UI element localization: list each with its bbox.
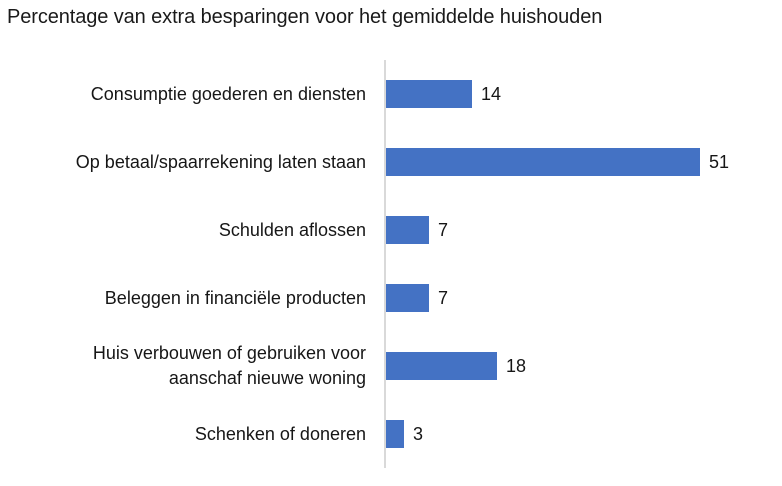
bar-group: 18 bbox=[386, 352, 526, 380]
bar-row: Consumptie goederen en diensten 14 bbox=[0, 60, 782, 128]
bar-value-label: 7 bbox=[438, 284, 448, 312]
bar-row: Beleggen in financiële producten 7 bbox=[0, 264, 782, 332]
category-label-line: Schenken of doneren bbox=[195, 422, 366, 447]
bar-value-label: 18 bbox=[506, 352, 526, 380]
bar-row: Op betaal/spaarrekening laten staan 51 bbox=[0, 128, 782, 196]
bar-group: 51 bbox=[386, 148, 729, 176]
bar[interactable] bbox=[386, 80, 472, 108]
category-label: Op betaal/spaarrekening laten staan bbox=[6, 128, 366, 196]
category-label: Schenken of doneren bbox=[6, 400, 366, 468]
bar-group: 14 bbox=[386, 80, 501, 108]
category-label-line: Beleggen in financiële producten bbox=[105, 286, 366, 311]
category-label: Consumptie goederen en diensten bbox=[6, 60, 366, 128]
bar-row: Schulden aflossen 7 bbox=[0, 196, 782, 264]
bar-value-label: 51 bbox=[709, 148, 729, 176]
bar[interactable] bbox=[386, 216, 429, 244]
category-label-line: Huis verbouwen of gebruiken voor bbox=[93, 341, 366, 366]
category-label: Huis verbouwen of gebruiken voor aanscha… bbox=[6, 332, 366, 400]
bar-group: 3 bbox=[386, 420, 423, 448]
chart-title: Percentage van extra besparingen voor he… bbox=[7, 4, 767, 30]
bar-value-label: 3 bbox=[413, 420, 423, 448]
bar[interactable] bbox=[386, 420, 404, 448]
bar-value-label: 14 bbox=[481, 80, 501, 108]
bar-group: 7 bbox=[386, 284, 448, 312]
category-label-line: aanschaf nieuwe woning bbox=[169, 366, 366, 391]
plot-area: Consumptie goederen en diensten 14 Op be… bbox=[0, 60, 782, 468]
bar-value-label: 7 bbox=[438, 216, 448, 244]
category-label: Schulden aflossen bbox=[6, 196, 366, 264]
category-label-line: Schulden aflossen bbox=[219, 218, 366, 243]
bar[interactable] bbox=[386, 352, 497, 380]
category-label-line: Consumptie goederen en diensten bbox=[91, 82, 366, 107]
bar-chart: Percentage van extra besparingen voor he… bbox=[0, 0, 782, 486]
category-label: Beleggen in financiële producten bbox=[6, 264, 366, 332]
bar[interactable] bbox=[386, 148, 700, 176]
category-label-line: Op betaal/spaarrekening laten staan bbox=[76, 150, 366, 175]
bar-group: 7 bbox=[386, 216, 448, 244]
bar-row: Huis verbouwen of gebruiken voor aanscha… bbox=[0, 332, 782, 400]
bar-row: Schenken of doneren 3 bbox=[0, 400, 782, 468]
bar[interactable] bbox=[386, 284, 429, 312]
